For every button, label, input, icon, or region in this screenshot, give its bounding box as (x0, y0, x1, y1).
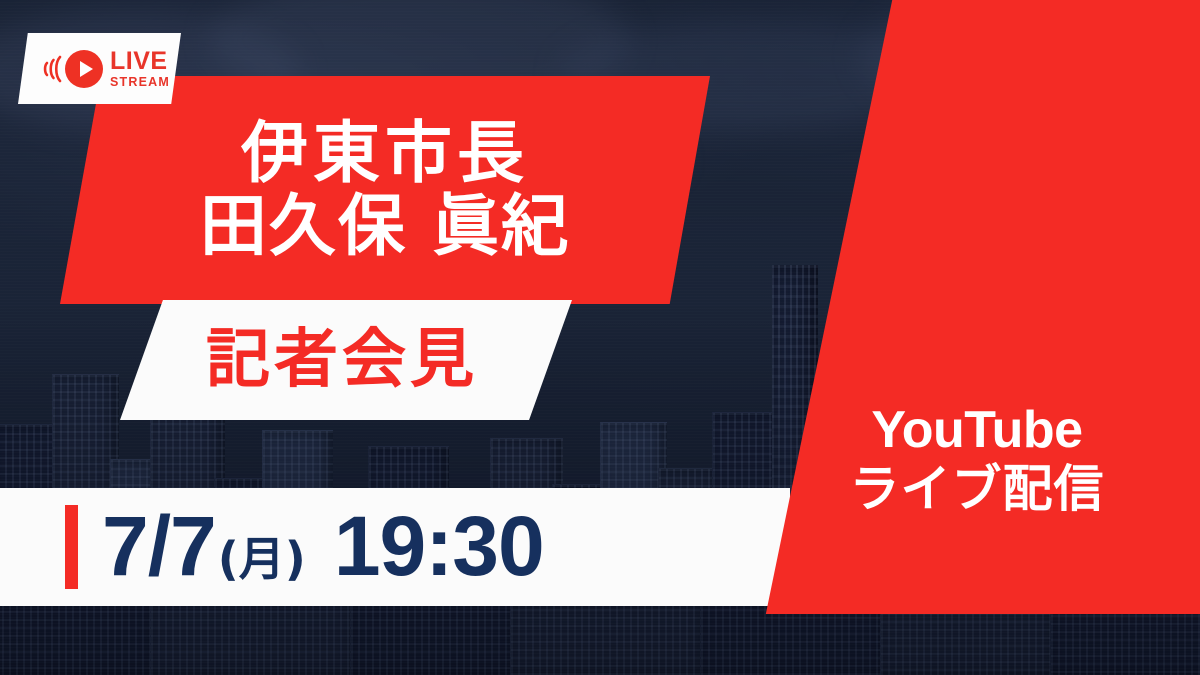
title-line-name: 田久保 眞紀 (200, 191, 570, 262)
play-button-icon (65, 50, 103, 88)
title-panel: 伊東市長 田久保 眞紀 (60, 76, 710, 304)
live-stream-announcement-graphic: LIVE STREAM 伊東市長 田久保 眞紀 記者会見 7/7 (月) 19:… (0, 0, 1200, 675)
date-bar: 7/7 (月) 19:30 (0, 488, 790, 606)
badge-live-label: LIVE (110, 49, 170, 74)
badge-stream-label: STREAM (110, 76, 170, 89)
live-stream-badge: LIVE STREAM (18, 33, 181, 104)
title-line-office: 伊東市長 (241, 118, 529, 189)
broadcast-waves-icon (41, 50, 63, 88)
subtitle-text: 記者会見 (206, 328, 478, 392)
youtube-title: YouTube (871, 404, 1082, 456)
time-value: 19:30 (334, 507, 544, 587)
subtitle-panel: 記者会見 (120, 300, 572, 420)
youtube-subtitle: ライブ配信 (850, 462, 1105, 516)
day-of-week-value: (月) (218, 538, 306, 582)
date-value: 7/7 (102, 507, 216, 587)
date-accent-bar (65, 505, 78, 589)
